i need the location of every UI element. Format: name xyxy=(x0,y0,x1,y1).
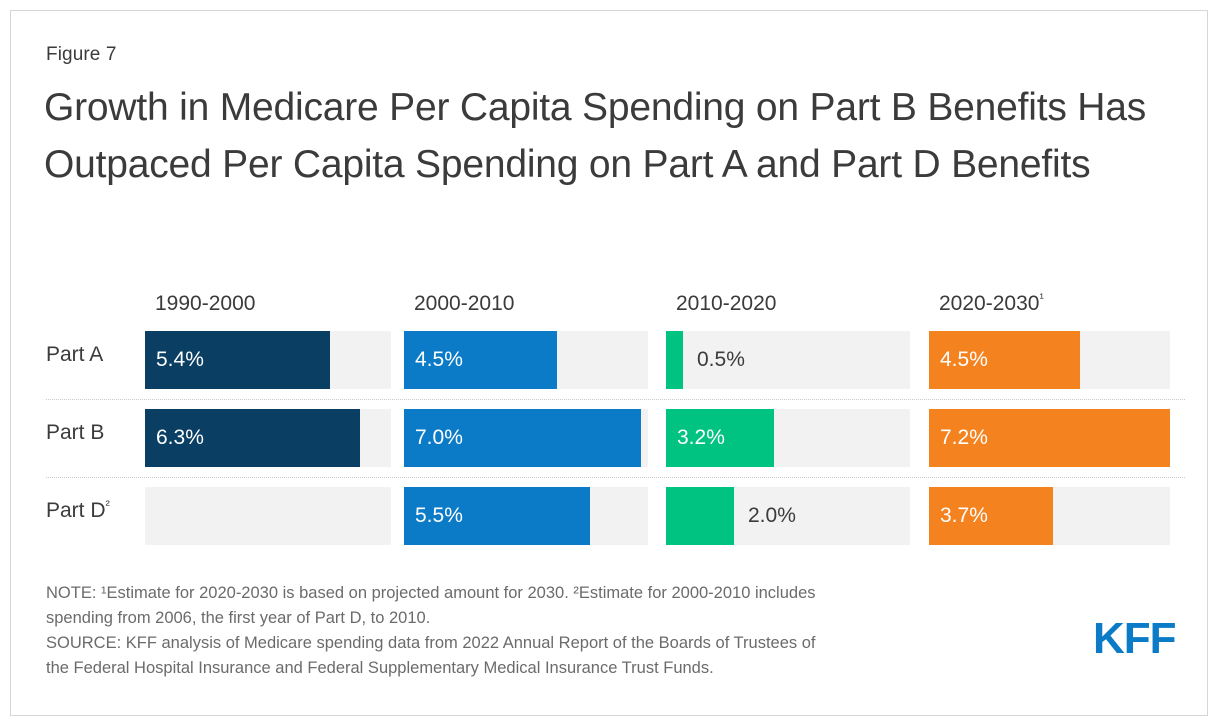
bar-value-label: 5.5% xyxy=(415,487,463,545)
bar-value-label: 0.5% xyxy=(697,331,745,389)
bar-track: 4.5% xyxy=(404,331,648,389)
bar-value-label: 4.5% xyxy=(940,331,988,389)
row-label-1: Part A xyxy=(46,343,103,367)
row-divider-2 xyxy=(46,477,1185,478)
bar-track: 7.2% xyxy=(929,409,1170,467)
row-label-2: Part B xyxy=(46,421,104,445)
column-header-4: 2020-2030¹ xyxy=(939,292,1044,316)
bar-value-label: 4.5% xyxy=(415,331,463,389)
note-line-2: spending from 2006, the first year of Pa… xyxy=(46,606,1086,631)
bar-value-label: 5.4% xyxy=(156,331,204,389)
bar-track: 5.5% xyxy=(404,487,648,545)
bar-value-label: 3.2% xyxy=(677,409,725,467)
figure-notes: NOTE: ¹Estimate for 2020-2030 is based o… xyxy=(46,581,1086,681)
bar-value-label: 2.0% xyxy=(748,487,796,545)
bar-value-label: 7.0% xyxy=(415,409,463,467)
bar-track: 7.0% xyxy=(404,409,648,467)
bar-track xyxy=(145,487,391,545)
bar xyxy=(666,487,734,545)
bar-track: 3.7% xyxy=(929,487,1170,545)
source-line-2: the Federal Hospital Insurance and Feder… xyxy=(46,656,1086,681)
bar-track: 0.5% xyxy=(666,331,910,389)
bar-value-label: 6.3% xyxy=(156,409,204,467)
bar-track: 3.2% xyxy=(666,409,910,467)
footnote-marker: ² xyxy=(106,497,110,512)
bar-track: 6.3% xyxy=(145,409,391,467)
row-divider-1 xyxy=(46,399,1185,400)
note-line-1: NOTE: ¹Estimate for 2020-2030 is based o… xyxy=(46,581,1086,606)
bar-track: 5.4% xyxy=(145,331,391,389)
bar-track: 2.0% xyxy=(666,487,910,545)
column-header-1: 1990-2000 xyxy=(155,292,255,316)
bar-value-label: 7.2% xyxy=(940,409,988,467)
kff-logo: KFF xyxy=(1093,614,1176,664)
bar-track: 4.5% xyxy=(929,331,1170,389)
column-header-2: 2000-2010 xyxy=(414,292,514,316)
source-line-1: SOURCE: KFF analysis of Medicare spendin… xyxy=(46,631,1086,656)
bar xyxy=(666,331,683,389)
column-header-3: 2010-2020 xyxy=(676,292,776,316)
figure-frame: Figure 7 Growth in Medicare Per Capita S… xyxy=(10,10,1208,716)
bar-value-label: 3.7% xyxy=(940,487,988,545)
footnote-marker: ¹ xyxy=(1039,290,1043,305)
row-label-3: Part D² xyxy=(46,499,110,523)
